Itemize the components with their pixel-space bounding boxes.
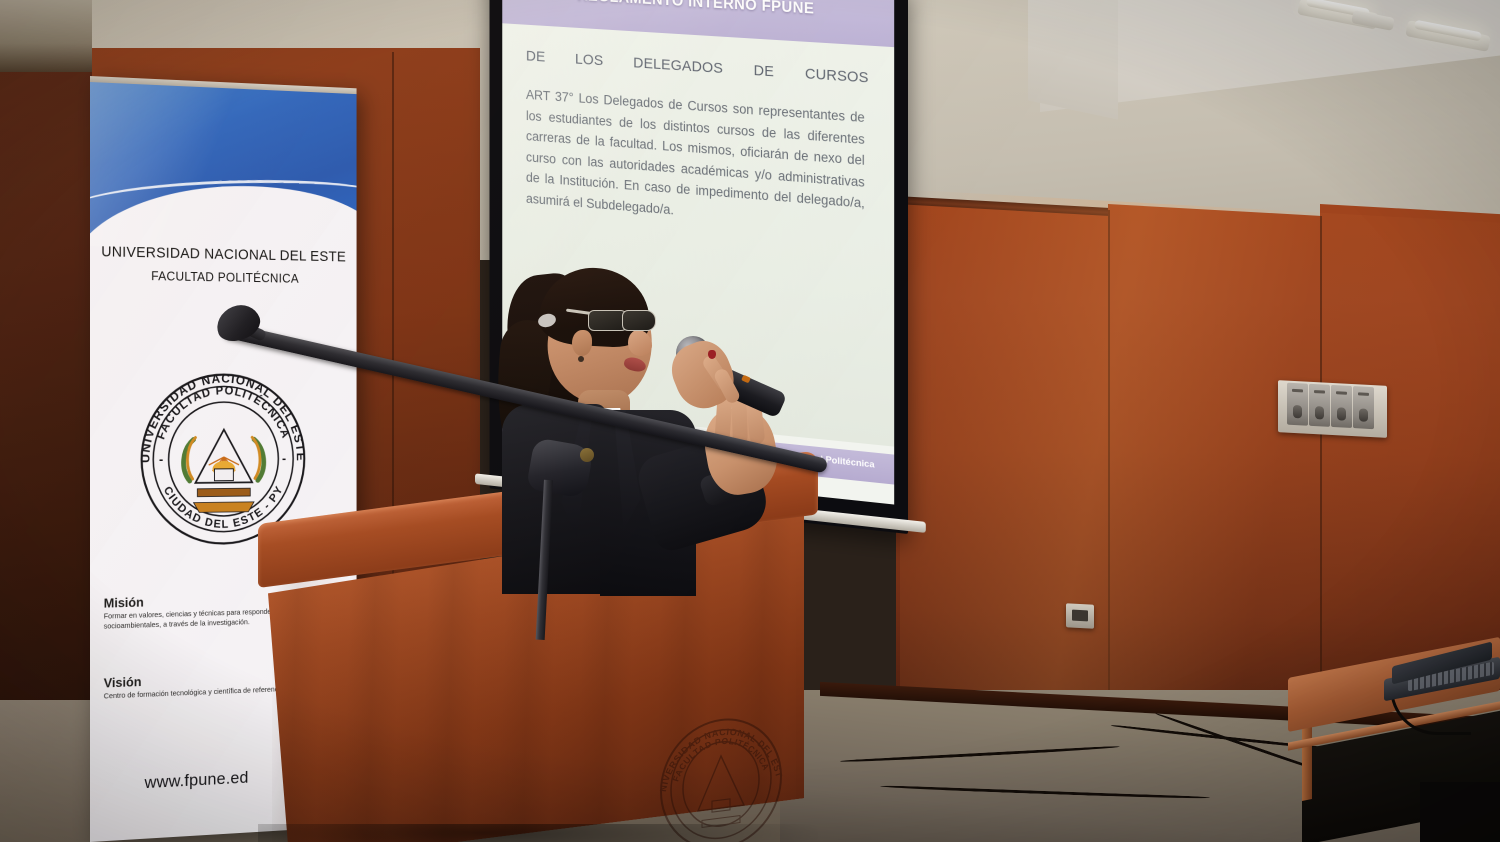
- light-switch-3[interactable]: [1331, 385, 1352, 428]
- desk-side-panel: [1420, 782, 1500, 842]
- wood-panel-b: [1108, 204, 1322, 721]
- boom-adjust-knob[interactable]: [580, 448, 594, 462]
- boom-clamp: [526, 437, 594, 499]
- wood-panel-a: [896, 204, 1110, 716]
- wall-light-switch-panel[interactable]: [1278, 380, 1387, 438]
- slide-heading-word-3: DELEGADOS: [633, 55, 723, 77]
- slide-heading-word-4: DE: [754, 62, 774, 80]
- slide-heading: DE LOS DELEGADOS DE CURSOS: [526, 48, 869, 87]
- light-switch-4[interactable]: [1353, 386, 1374, 429]
- wood-seam-2: [1320, 216, 1322, 716]
- wall-power-outlet[interactable]: [1066, 603, 1094, 628]
- podium-carved-seal-icon: UNIVERSIDAD NACIONAL DEL ESTE FACULTAD P…: [656, 688, 786, 842]
- light-switch-2[interactable]: [1309, 384, 1330, 427]
- boom-microphone-stand: [200, 300, 840, 590]
- slide-heading-word-5: CURSOS: [805, 65, 869, 86]
- light-switch-1[interactable]: [1287, 383, 1308, 426]
- left-wall-top-trim: [0, 0, 92, 72]
- slide-heading-word-2: LOS: [575, 51, 603, 69]
- slide-heading-word-1: DE: [526, 48, 545, 66]
- boom-arm: [222, 322, 828, 474]
- banner-gloss: [90, 76, 357, 252]
- wooden-desk: [1288, 660, 1500, 842]
- presentation-scene: REGLAMENTO INTERNO FPUNE DE LOS DELEGADO…: [0, 0, 1500, 842]
- ceiling-soffit: [1028, 0, 1118, 120]
- wood-seam-1: [1108, 210, 1110, 710]
- podium-shadow: [258, 824, 818, 842]
- slide-body-text: ART 37° Los Delegados de Cursos son repr…: [526, 84, 865, 235]
- svg-text:-: -: [159, 451, 163, 466]
